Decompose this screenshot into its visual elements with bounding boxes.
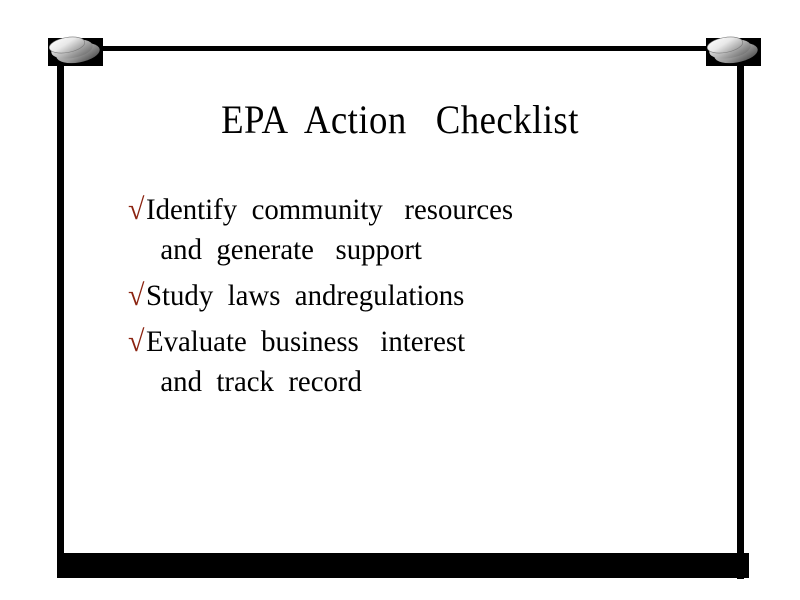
bullet-text: Evaluate business interest and track rec… [146,322,705,402]
frame-corner-block-right [706,38,761,66]
bullet-text: Study laws andregulations [146,276,705,316]
slide-bullet-list: √ Identify community resources and gener… [128,190,728,408]
bullet-item: √ Evaluate business interest and track r… [128,322,728,402]
slide-title: EPA Action Checklist [91,96,709,144]
frame-right-bar [737,47,744,579]
presentation-slide: EPA Action Checklist √ Identify communit… [0,0,800,600]
bullet-item: √ Identify community resources and gener… [128,190,728,270]
bullet-item: √ Study laws andregulations [128,276,728,316]
check-mark-icon: √ [128,276,146,316]
frame-left-bar [57,47,64,559]
check-mark-icon: √ [128,322,146,362]
frame-top-rule [100,46,720,51]
check-mark-icon: √ [128,190,146,230]
bullet-text: Identify community resources and generat… [146,190,705,270]
frame-bottom-bar [57,553,749,578]
